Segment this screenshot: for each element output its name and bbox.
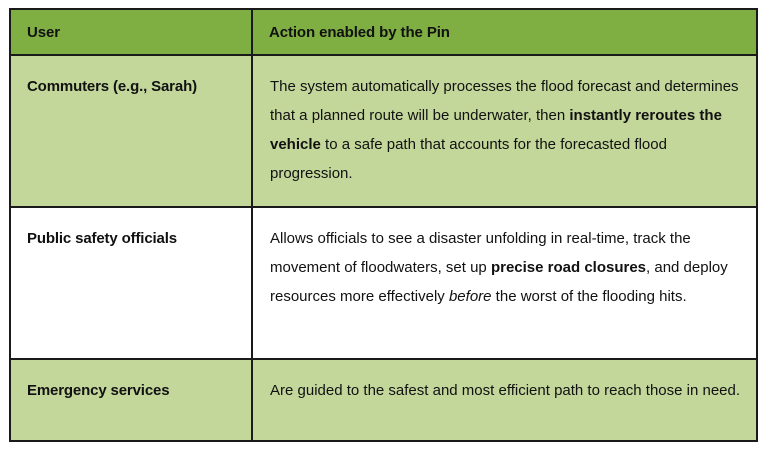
table-row: Public safety officials Allows officials… (10, 207, 757, 359)
column-header-user: User (10, 9, 252, 55)
cell-user: Emergency services (10, 359, 252, 441)
cell-user: Public safety officials (10, 207, 252, 359)
cell-action: Allows officials to see a disaster unfol… (252, 207, 757, 359)
info-table: User Action enabled by the Pin Commuters… (9, 8, 758, 442)
table-row: Commuters (e.g., Sarah) The system autom… (10, 55, 757, 207)
column-header-action: Action enabled by the Pin (252, 9, 757, 55)
table-row: Emergency services Are guided to the saf… (10, 359, 757, 441)
cell-user: Commuters (e.g., Sarah) (10, 55, 252, 207)
table-head: User Action enabled by the Pin (10, 9, 757, 55)
page-root: User Action enabled by the Pin Commuters… (0, 0, 768, 452)
table-header-row: User Action enabled by the Pin (10, 9, 757, 55)
cell-action: The system automatically processes the f… (252, 55, 757, 207)
cell-action: Are guided to the safest and most effici… (252, 359, 757, 441)
table-body: Commuters (e.g., Sarah) The system autom… (10, 55, 757, 441)
